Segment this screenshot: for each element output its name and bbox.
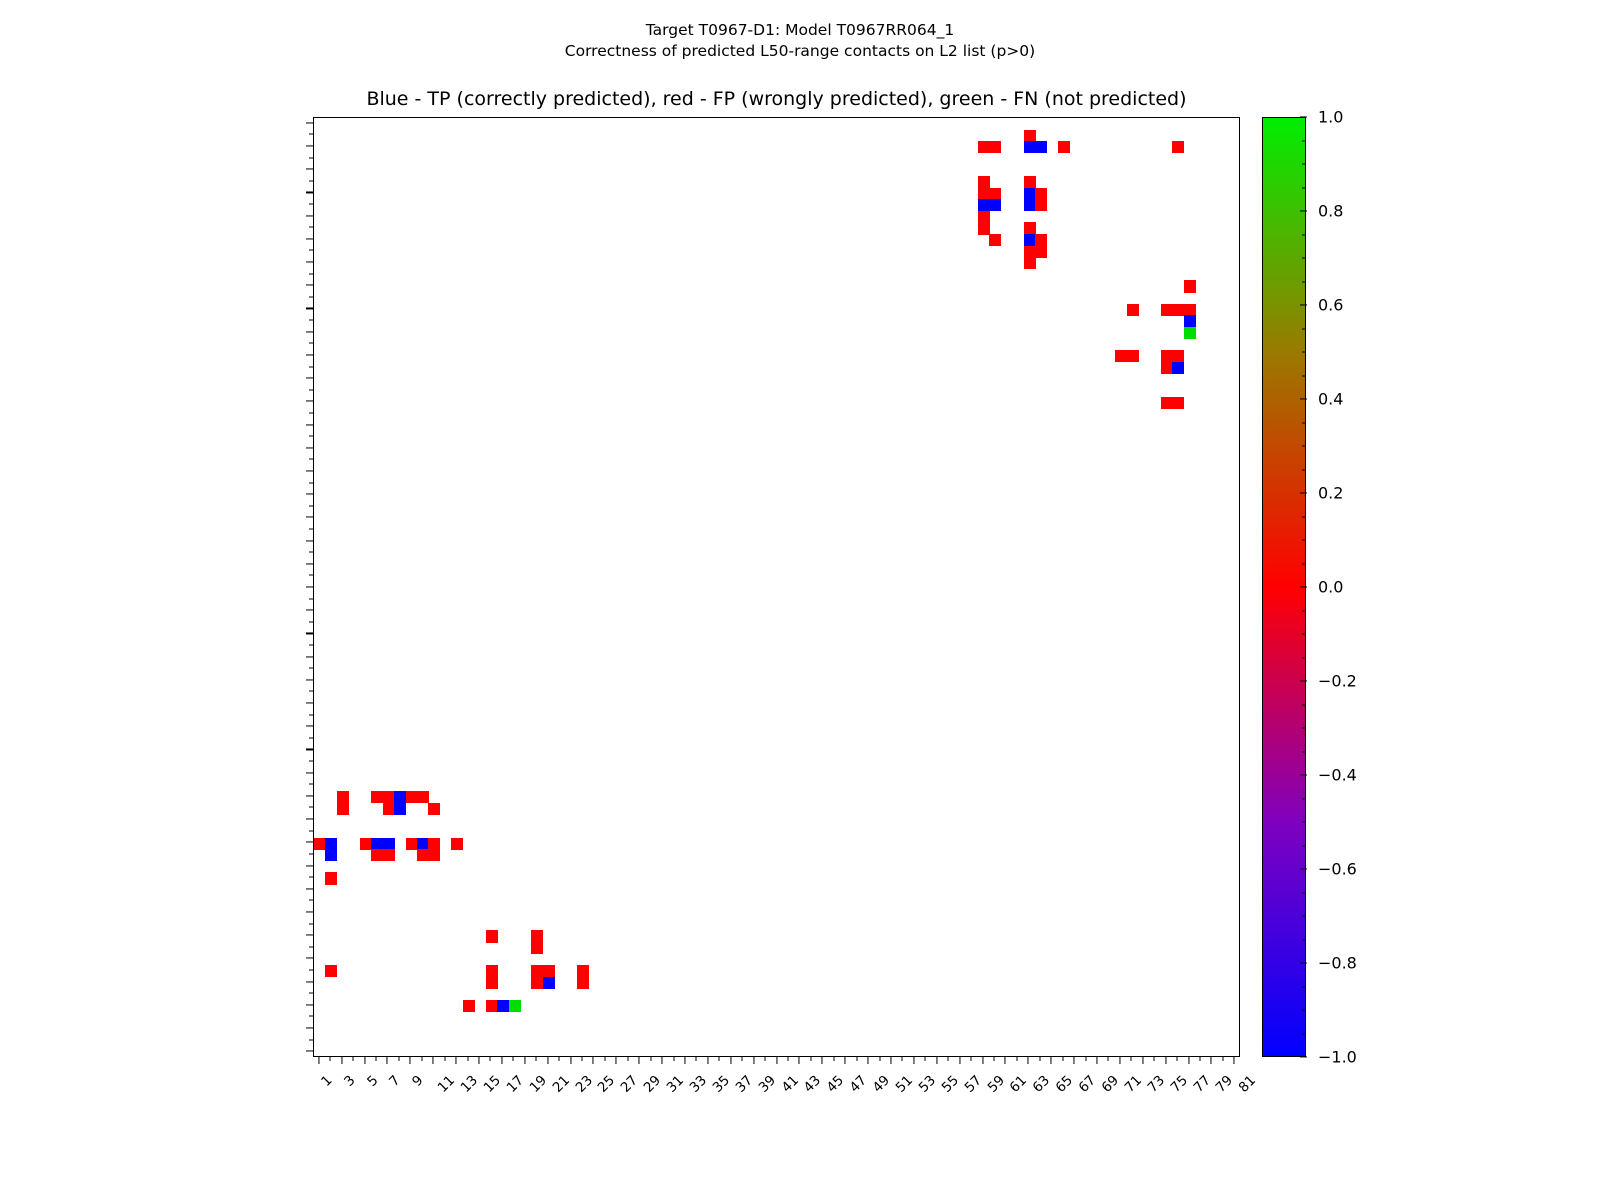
contact-cell	[1024, 246, 1036, 258]
y-tick-minor	[309, 227, 313, 228]
colorbar-minor-tick	[1302, 657, 1306, 658]
contact-cell	[1115, 350, 1127, 362]
x-tick-label: 57	[961, 1072, 984, 1095]
contact-cell	[1024, 188, 1036, 200]
contact-cell	[383, 838, 395, 850]
x-tick-label: 77	[1190, 1072, 1213, 1095]
x-tick-minor	[925, 1057, 926, 1061]
contact-cell	[1024, 176, 1036, 188]
colorbar-minor-tick	[1302, 986, 1306, 987]
x-tick-label: 27	[618, 1072, 641, 1095]
colorbar-minor-tick	[1302, 540, 1306, 541]
y-tick-minor	[309, 830, 313, 831]
y-tick-minor	[309, 621, 313, 622]
contact-cell	[1035, 199, 1047, 211]
x-tick-minor	[559, 1057, 560, 1061]
colorbar-tick	[1300, 586, 1307, 587]
colorbar-minor-tick	[1302, 1010, 1306, 1011]
colorbar-minor-tick	[1302, 939, 1306, 940]
x-tick-minor	[421, 1057, 422, 1061]
contact-cell	[486, 977, 498, 989]
contact-cell	[978, 176, 990, 188]
x-tick-label: 75	[1167, 1072, 1190, 1095]
x-tick-major	[318, 1057, 319, 1064]
x-tick-label: 69	[1099, 1072, 1122, 1095]
x-tick-minor	[833, 1057, 834, 1061]
y-tick-major	[306, 586, 313, 587]
x-tick-major	[684, 1057, 685, 1064]
x-tick-minor	[696, 1057, 697, 1061]
colorbar-minor-tick	[1302, 328, 1306, 329]
y-tick-minor	[309, 1016, 313, 1017]
y-tick-major	[306, 517, 313, 518]
x-tick-label: 37	[732, 1072, 755, 1095]
x-tick-minor	[604, 1057, 605, 1061]
contact-cell	[486, 930, 498, 942]
contact-cell	[383, 791, 395, 803]
y-tick-minor	[309, 343, 313, 344]
colorbar-tick	[1300, 398, 1307, 399]
x-tick-major	[799, 1057, 800, 1064]
x-tick-major	[341, 1057, 342, 1064]
axes-title-legend: Blue - TP (correctly predicted), red - F…	[313, 88, 1240, 110]
contact-cell	[1024, 199, 1036, 211]
contact-cell	[1035, 188, 1047, 200]
x-tick-minor	[1039, 1057, 1040, 1061]
x-tick-label: 19	[526, 1072, 549, 1095]
y-tick-major	[306, 238, 313, 239]
x-tick-minor	[810, 1057, 811, 1061]
contact-cell	[325, 838, 337, 850]
y-tick-major	[306, 262, 313, 263]
x-tick-major	[639, 1057, 640, 1064]
x-tick-label: 55	[938, 1072, 961, 1095]
contact-cell	[417, 791, 429, 803]
x-tick-major	[1005, 1057, 1006, 1064]
contact-cell	[531, 930, 543, 942]
x-tick-label: 3	[341, 1072, 358, 1089]
contact-cell	[337, 791, 349, 803]
contact-map-cells	[314, 118, 1239, 1056]
x-tick-label: 23	[572, 1072, 595, 1095]
colorbar-minor-tick	[1302, 187, 1306, 188]
contact-cell	[1024, 141, 1036, 153]
y-tick-minor	[309, 273, 313, 274]
y-tick-minor	[309, 296, 313, 297]
x-tick-minor	[879, 1057, 880, 1061]
y-tick-major	[306, 865, 313, 866]
y-tick-major	[306, 447, 313, 448]
x-tick-major	[478, 1057, 479, 1064]
contact-cell	[531, 942, 543, 954]
x-tick-label: 39	[755, 1072, 778, 1095]
y-tick-minor	[309, 923, 313, 924]
y-tick-major	[306, 1027, 313, 1028]
contact-cell	[1024, 234, 1036, 246]
contact-cell	[1184, 327, 1196, 339]
y-tick-major	[306, 470, 313, 471]
x-tick-minor	[1177, 1057, 1178, 1061]
colorbar-minor-tick	[1302, 140, 1306, 141]
y-tick-minor	[309, 946, 313, 947]
colorbar-tick	[1300, 774, 1307, 775]
x-tick-minor	[742, 1057, 743, 1061]
x-tick-major	[524, 1057, 525, 1064]
contact-cell	[451, 838, 463, 850]
y-tick-major	[306, 192, 313, 193]
colorbar-minor-tick	[1302, 234, 1306, 235]
x-tick-minor	[375, 1057, 376, 1061]
x-tick-major	[616, 1057, 617, 1064]
contact-cell	[417, 849, 429, 861]
contact-cell	[314, 838, 326, 850]
contact-cell	[1161, 362, 1173, 374]
x-tick-major	[845, 1057, 846, 1064]
x-tick-minor	[398, 1057, 399, 1061]
x-tick-label: 79	[1213, 1072, 1236, 1095]
y-tick-major	[306, 331, 313, 332]
x-tick-major	[936, 1057, 937, 1064]
x-tick-minor	[1108, 1057, 1109, 1061]
y-tick-minor	[309, 180, 313, 181]
contact-cell	[989, 199, 1001, 211]
y-tick-minor	[309, 412, 313, 413]
x-tick-minor	[1085, 1057, 1086, 1061]
contact-cell	[1024, 222, 1036, 234]
x-tick-major	[730, 1057, 731, 1064]
colorbar-tick-label: −0.2	[1318, 672, 1357, 691]
x-tick-label: 31	[664, 1072, 687, 1095]
x-tick-label: 1	[318, 1072, 335, 1089]
y-tick-minor	[309, 807, 313, 808]
y-tick-minor	[309, 157, 313, 158]
y-tick-minor	[309, 459, 313, 460]
x-tick-major	[913, 1057, 914, 1064]
colorbar-tick	[1300, 492, 1307, 493]
x-tick-major	[1234, 1057, 1235, 1064]
colorbar-minor-tick	[1302, 704, 1306, 705]
x-tick-minor	[513, 1057, 514, 1061]
contact-cell	[428, 803, 440, 815]
contact-map-plot	[313, 117, 1240, 1057]
x-tick-label: 7	[386, 1072, 403, 1089]
x-tick-minor	[1199, 1057, 1200, 1061]
contact-cell	[1024, 130, 1036, 142]
y-tick-minor	[309, 784, 313, 785]
x-tick-minor	[971, 1057, 972, 1061]
contact-cell	[383, 803, 395, 815]
y-tick-major	[306, 308, 313, 309]
x-tick-label: 65	[1053, 1072, 1076, 1095]
colorbar-minor-tick	[1302, 822, 1306, 823]
colorbar-tick-label: −0.6	[1318, 860, 1357, 879]
colorbar-minor-tick	[1302, 610, 1306, 611]
x-tick-minor	[536, 1057, 537, 1061]
contact-cell	[577, 965, 589, 977]
y-tick-major	[306, 911, 313, 912]
y-tick-minor	[309, 575, 313, 576]
x-tick-label: 53	[915, 1072, 938, 1095]
colorbar-minor-tick	[1302, 446, 1306, 447]
x-tick-minor	[993, 1057, 994, 1061]
y-tick-major	[306, 935, 313, 936]
x-tick-major	[593, 1057, 594, 1064]
contact-cell	[531, 965, 543, 977]
y-tick-major	[306, 795, 313, 796]
y-tick-minor	[309, 714, 313, 715]
x-tick-minor	[650, 1057, 651, 1061]
colorbar-minor-tick	[1302, 1033, 1306, 1034]
x-tick-minor	[353, 1057, 354, 1061]
figure-suptitle: Target T0967-D1: Model T0967RR064_1 Corr…	[0, 20, 1600, 62]
x-tick-label: 45	[824, 1072, 847, 1095]
contact-cell	[543, 977, 555, 989]
y-tick-major	[306, 633, 313, 634]
contact-cell	[1058, 141, 1070, 153]
colorbar-tick	[1300, 1056, 1307, 1057]
colorbar-tick-label: 1.0	[1318, 108, 1343, 127]
x-tick-major	[456, 1057, 457, 1064]
x-tick-major	[707, 1057, 708, 1064]
x-tick-minor	[719, 1057, 720, 1061]
x-tick-major	[1051, 1057, 1052, 1064]
y-tick-minor	[309, 761, 313, 762]
colorbar-tick-label: 0.6	[1318, 296, 1343, 315]
contact-cell	[989, 188, 1001, 200]
colorbar-minor-tick	[1302, 916, 1306, 917]
y-tick-major	[306, 610, 313, 611]
x-tick-label: 71	[1121, 1072, 1144, 1095]
y-tick-minor	[309, 320, 313, 321]
contact-cell	[989, 234, 1001, 246]
colorbar-minor-tick	[1302, 375, 1306, 376]
y-tick-major	[306, 656, 313, 657]
contact-cell	[1035, 234, 1047, 246]
x-tick-major	[1165, 1057, 1166, 1064]
x-tick-major	[1188, 1057, 1189, 1064]
x-tick-minor	[1016, 1057, 1017, 1061]
x-tick-minor	[627, 1057, 628, 1061]
colorbar-minor-tick	[1302, 634, 1306, 635]
colorbar-minor-tick	[1302, 728, 1306, 729]
y-tick-minor	[309, 598, 313, 599]
y-tick-major	[306, 285, 313, 286]
y-tick-major	[306, 819, 313, 820]
x-tick-label: 41	[778, 1072, 801, 1095]
x-tick-label: 81	[1236, 1072, 1259, 1095]
x-tick-major	[753, 1057, 754, 1064]
contact-cell	[371, 849, 383, 861]
contact-cell	[1161, 397, 1173, 409]
x-tick-label: 21	[549, 1072, 572, 1095]
x-tick-minor	[581, 1057, 582, 1061]
contact-cell	[531, 977, 543, 989]
x-tick-minor	[444, 1057, 445, 1061]
y-tick-major	[306, 958, 313, 959]
contact-cell	[1172, 141, 1184, 153]
x-tick-label: 15	[481, 1072, 504, 1095]
contact-cell	[1161, 350, 1173, 362]
y-tick-minor	[309, 645, 313, 646]
y-tick-major	[306, 401, 313, 402]
x-tick-minor	[490, 1057, 491, 1061]
contact-cell	[371, 791, 383, 803]
y-tick-major	[306, 122, 313, 123]
x-tick-major	[501, 1057, 502, 1064]
contact-cell	[543, 965, 555, 977]
x-tick-label: 73	[1144, 1072, 1167, 1095]
x-tick-minor	[1062, 1057, 1063, 1061]
y-tick-major	[306, 563, 313, 564]
contact-cell	[486, 965, 498, 977]
x-tick-label: 13	[458, 1072, 481, 1095]
y-tick-minor	[309, 900, 313, 901]
x-tick-major	[959, 1057, 960, 1064]
x-tick-minor	[787, 1057, 788, 1061]
x-tick-major	[547, 1057, 548, 1064]
y-tick-minor	[309, 969, 313, 970]
y-tick-minor	[309, 436, 313, 437]
contact-cell	[371, 838, 383, 850]
x-tick-major	[570, 1057, 571, 1064]
y-tick-minor	[309, 993, 313, 994]
colorbar-tick	[1300, 962, 1307, 963]
suptitle-line-2: Correctness of predicted L50-range conta…	[0, 41, 1600, 62]
x-tick-major	[387, 1057, 388, 1064]
contact-cell	[394, 791, 406, 803]
x-tick-label: 25	[595, 1072, 618, 1095]
y-tick-minor	[309, 691, 313, 692]
x-tick-major	[868, 1057, 869, 1064]
contact-cell	[1172, 350, 1184, 362]
x-tick-minor	[673, 1057, 674, 1061]
colorbar-tick-label: 0.0	[1318, 578, 1343, 597]
contact-cell	[509, 1000, 521, 1012]
x-tick-label: 29	[641, 1072, 664, 1095]
colorbar-minor-tick	[1302, 516, 1306, 517]
colorbar-minor-tick	[1302, 845, 1306, 846]
y-tick-major	[306, 378, 313, 379]
contact-cell	[1172, 304, 1184, 316]
y-tick-minor	[309, 853, 313, 854]
y-tick-major	[306, 888, 313, 889]
colorbar-minor-tick	[1302, 258, 1306, 259]
y-tick-minor	[309, 1039, 313, 1040]
colorbar-minor-tick	[1302, 751, 1306, 752]
contact-cell	[428, 849, 440, 861]
y-tick-minor	[309, 366, 313, 367]
y-tick-major	[306, 169, 313, 170]
y-tick-minor	[309, 668, 313, 669]
x-tick-label: 47	[847, 1072, 870, 1095]
colorbar-minor-tick	[1302, 281, 1306, 282]
colorbar-tick	[1300, 210, 1307, 211]
contact-cell	[486, 1000, 498, 1012]
colorbar-minor-tick	[1302, 892, 1306, 893]
y-tick-minor	[309, 552, 313, 553]
y-tick-major	[306, 354, 313, 355]
y-tick-major	[306, 540, 313, 541]
x-tick-minor	[902, 1057, 903, 1061]
x-tick-minor	[1222, 1057, 1223, 1061]
contact-cell	[1161, 304, 1173, 316]
x-tick-label: 67	[1076, 1072, 1099, 1095]
x-tick-label: 17	[503, 1072, 526, 1095]
y-tick-major	[306, 703, 313, 704]
x-tick-minor	[765, 1057, 766, 1061]
contact-cell	[337, 803, 349, 815]
colorbar-tick	[1300, 304, 1307, 305]
x-tick-label: 35	[709, 1072, 732, 1095]
y-tick-major	[306, 749, 313, 750]
contact-cell	[978, 141, 990, 153]
contact-cell	[1127, 304, 1139, 316]
contact-cell	[417, 838, 429, 850]
y-tick-major	[306, 424, 313, 425]
x-tick-major	[410, 1057, 411, 1064]
x-tick-minor	[467, 1057, 468, 1061]
contact-cell	[383, 849, 395, 861]
contact-cell	[1127, 350, 1139, 362]
y-tick-major	[306, 842, 313, 843]
x-tick-major	[822, 1057, 823, 1064]
x-tick-label: 49	[870, 1072, 893, 1095]
x-tick-major	[1119, 1057, 1120, 1064]
y-tick-major	[306, 145, 313, 146]
x-tick-label: 51	[893, 1072, 916, 1095]
colorbar-tick-label: 0.2	[1318, 484, 1343, 503]
y-tick-minor	[309, 737, 313, 738]
x-axis: 1357911131517192123252729313335373941434…	[0, 1057, 1300, 1177]
x-tick-minor	[330, 1057, 331, 1061]
contact-cell	[1024, 257, 1036, 269]
colorbar-tick	[1300, 116, 1307, 117]
x-tick-major	[890, 1057, 891, 1064]
contact-cell	[360, 838, 372, 850]
colorbar-minor-tick	[1302, 422, 1306, 423]
y-tick-minor	[309, 528, 313, 529]
contact-cell	[497, 1000, 509, 1012]
colorbar-tick-label: 0.4	[1318, 390, 1343, 409]
x-tick-major	[982, 1057, 983, 1064]
contact-cell	[989, 141, 1001, 153]
y-tick-minor	[309, 877, 313, 878]
contact-cell	[1184, 304, 1196, 316]
contact-cell	[406, 791, 418, 803]
contact-cell	[406, 838, 418, 850]
x-tick-label: 63	[1030, 1072, 1053, 1095]
contact-cell	[978, 222, 990, 234]
colorbar-tick-label: 0.8	[1318, 202, 1343, 221]
y-tick-major	[306, 726, 313, 727]
contact-cell	[428, 838, 440, 850]
y-tick-major	[306, 1004, 313, 1005]
colorbar-tick-label: −0.4	[1318, 766, 1357, 785]
y-tick-major	[306, 679, 313, 680]
x-tick-label: 33	[687, 1072, 710, 1095]
colorbar-minor-tick	[1302, 164, 1306, 165]
suptitle-line-1: Target T0967-D1: Model T0967RR064_1	[0, 20, 1600, 41]
x-tick-label: 11	[435, 1072, 458, 1095]
contact-cell	[978, 199, 990, 211]
y-tick-major	[306, 215, 313, 216]
x-tick-label: 61	[1007, 1072, 1030, 1095]
y-tick-minor	[309, 505, 313, 506]
colorbar-minor-tick	[1302, 563, 1306, 564]
contact-cell	[978, 211, 990, 223]
colorbar-tick	[1300, 680, 1307, 681]
x-tick-major	[433, 1057, 434, 1064]
